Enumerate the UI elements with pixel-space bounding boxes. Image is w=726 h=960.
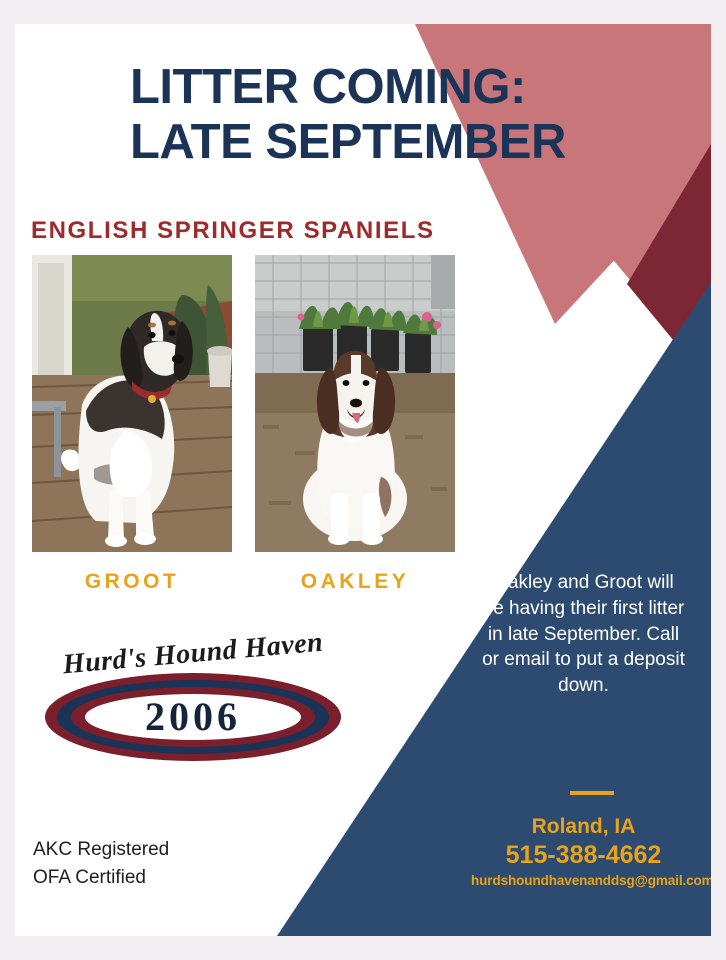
certification-ofa: OFA Certified xyxy=(33,864,169,892)
photo-caption-groot: GROOT xyxy=(32,570,232,594)
headline-line-1: LITTER COMING: xyxy=(130,60,570,115)
photo-groot xyxy=(32,255,232,552)
photo-oakley-image xyxy=(255,255,455,552)
logo: Hurd's Hound Haven 2006 xyxy=(43,632,343,772)
contact-block: Roland, IA 515-388-4662 hurdshoundhavena… xyxy=(471,814,696,888)
photo-groot-image xyxy=(32,255,232,552)
contact-phone[interactable]: 515-388-4662 xyxy=(471,840,696,870)
photo-caption-oakley: OAKLEY xyxy=(255,570,455,594)
certification-akc: AKC Registered xyxy=(33,836,169,864)
logo-emblem: 2006 xyxy=(43,662,343,772)
photo-oakley xyxy=(255,255,455,552)
contact-city: Roland, IA xyxy=(471,814,696,840)
page-title: LITTER COMING: LATE SEPTEMBER xyxy=(130,60,570,171)
maroon-sliver xyxy=(627,144,711,386)
litter-description: Oakley and Groot will be having their fi… xyxy=(481,570,686,699)
breed-subhead: ENGLISH SPRINGER SPANIELS xyxy=(31,217,435,245)
headline-line-2: LATE SEPTEMBER xyxy=(130,115,570,170)
poster: LITTER COMING: LATE SEPTEMBER ENGLISH SP… xyxy=(15,24,711,936)
divider xyxy=(570,791,614,795)
logo-year: 2006 xyxy=(145,694,241,739)
certifications: AKC Registered OFA Certified xyxy=(33,836,169,891)
contact-email[interactable]: hurdshoundhavenanddsg@gmail.com xyxy=(471,873,696,888)
